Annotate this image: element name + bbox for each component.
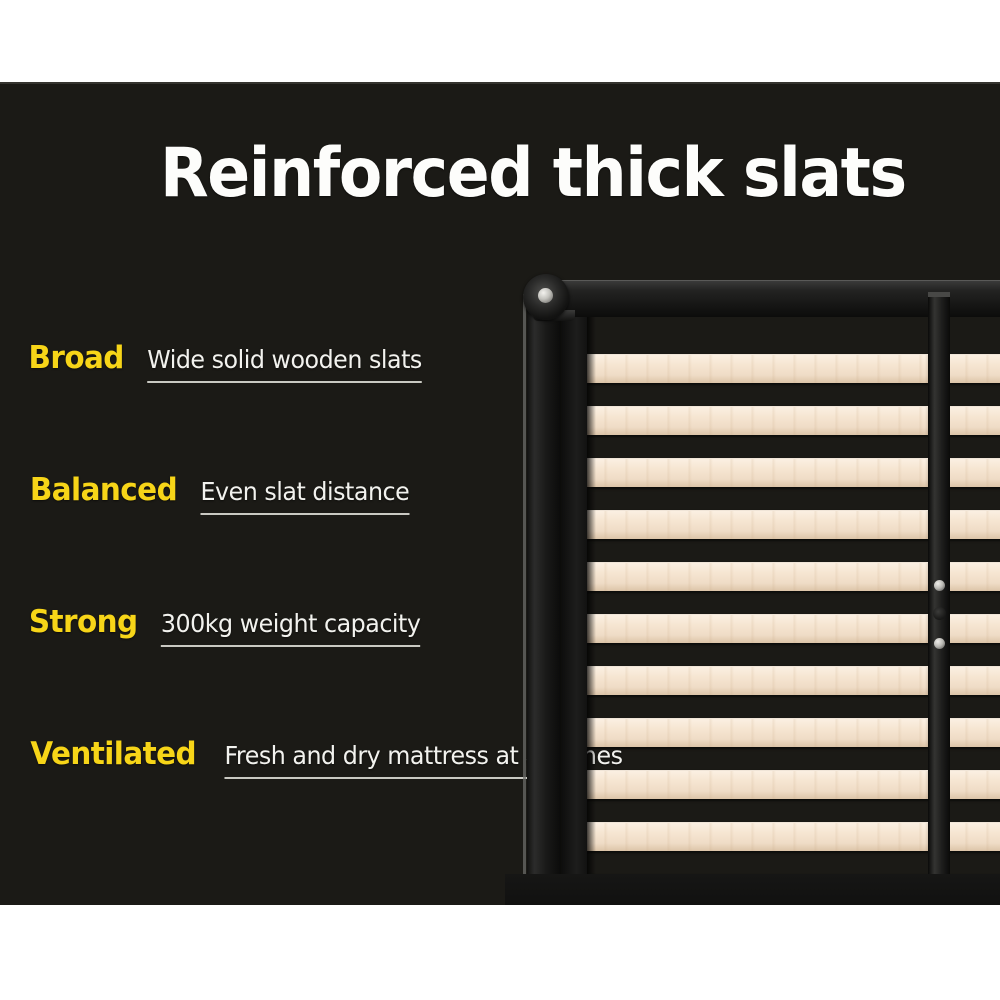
slat-grain bbox=[948, 459, 1000, 487]
slat-grain bbox=[948, 407, 1000, 435]
feature-key-strong: Strong bbox=[29, 604, 138, 640]
slat-grain bbox=[948, 823, 1000, 851]
slat-grain bbox=[948, 511, 1000, 539]
corner-bracket-icon bbox=[523, 274, 569, 320]
wooden-slat bbox=[587, 770, 932, 799]
wooden-slat bbox=[587, 458, 932, 487]
wooden-slat bbox=[948, 406, 1000, 435]
frame-center-rail-cap bbox=[928, 292, 950, 297]
feature-row-broad: Broad Wide solid wooden slats bbox=[26, 340, 429, 383]
feature-desc-broad: Wide solid wooden slats bbox=[148, 345, 423, 383]
frame-center-support-rail bbox=[928, 292, 950, 905]
slat-grain bbox=[587, 355, 932, 383]
wooden-slat bbox=[948, 614, 1000, 643]
slat-grain bbox=[587, 667, 932, 695]
bracket-bolt-icon bbox=[538, 288, 553, 303]
product-photo-bed-frame bbox=[505, 82, 1000, 905]
wooden-slat bbox=[948, 354, 1000, 383]
slat-grain bbox=[948, 719, 1000, 747]
center-rail-bolt-icon-1 bbox=[934, 580, 945, 591]
slat-grain bbox=[587, 719, 932, 747]
wooden-slat bbox=[948, 770, 1000, 799]
center-rail-knob-icon bbox=[933, 607, 946, 620]
banner-image: Reinforced thick slats Broad Wide solid … bbox=[0, 0, 1000, 1000]
slat-grain bbox=[587, 407, 932, 435]
wooden-slat bbox=[587, 354, 932, 383]
wooden-slat bbox=[587, 614, 932, 643]
feature-key-balanced: Balanced bbox=[30, 472, 177, 508]
wooden-slat bbox=[948, 458, 1000, 487]
frame-inner-shadow bbox=[587, 297, 596, 905]
wooden-slat bbox=[948, 822, 1000, 851]
wooden-slat bbox=[948, 718, 1000, 747]
feature-desc-strong: 300kg weight capacity bbox=[161, 609, 421, 647]
wooden-slat bbox=[587, 666, 932, 695]
slat-grain bbox=[948, 615, 1000, 643]
slat-grain bbox=[587, 615, 932, 643]
feature-desc-balanced: Even slat distance bbox=[200, 477, 409, 515]
wooden-slat bbox=[948, 666, 1000, 695]
slat-grain bbox=[587, 511, 932, 539]
frame-inner-side bbox=[561, 297, 587, 905]
wooden-slat bbox=[587, 718, 932, 747]
feature-key-ventilated: Ventilated bbox=[30, 736, 196, 772]
slat-grain bbox=[948, 355, 1000, 383]
slat-grain bbox=[587, 563, 932, 591]
center-rail-bolt-icon-2 bbox=[934, 638, 945, 649]
wooden-slat bbox=[587, 562, 932, 591]
slat-grain bbox=[587, 459, 932, 487]
feature-row-balanced: Balanced Even slat distance bbox=[26, 472, 415, 515]
wooden-slat bbox=[948, 510, 1000, 539]
frame-left-highlight bbox=[523, 294, 526, 905]
wooden-slat bbox=[587, 822, 932, 851]
frame-bottom-band bbox=[505, 874, 1000, 905]
slat-grain bbox=[948, 771, 1000, 799]
wooden-slat bbox=[587, 406, 932, 435]
wooden-slat bbox=[587, 510, 932, 539]
slat-grain bbox=[587, 771, 932, 799]
slat-grain bbox=[948, 667, 1000, 695]
frame-left-post bbox=[527, 297, 561, 905]
wooden-slat bbox=[948, 562, 1000, 591]
slat-grain bbox=[948, 563, 1000, 591]
feature-key-broad: Broad bbox=[29, 340, 124, 376]
slat-grain bbox=[587, 823, 932, 851]
feature-row-strong: Strong 300kg weight capacity bbox=[26, 604, 428, 647]
